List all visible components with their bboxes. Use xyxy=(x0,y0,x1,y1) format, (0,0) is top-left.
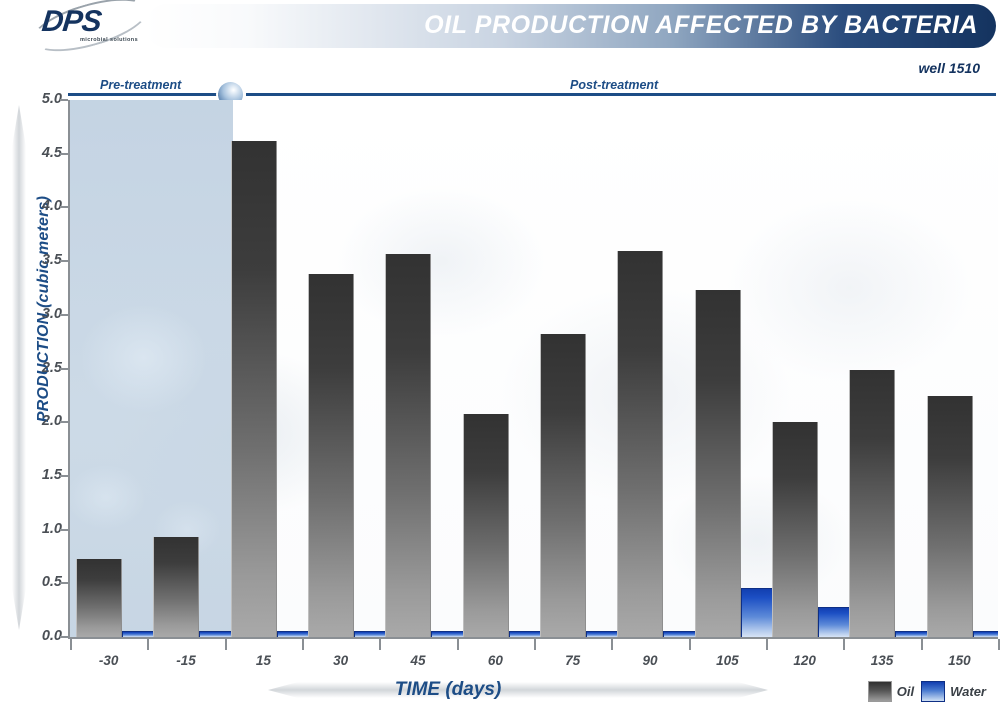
y-tick-label: 3.5 xyxy=(24,252,62,268)
x-tick-mark xyxy=(534,639,536,650)
bar-oil-120 xyxy=(772,422,818,637)
legend-label: Oil xyxy=(897,684,914,699)
y-tick-label: 1.5 xyxy=(24,467,62,483)
y-tick-label: 3.0 xyxy=(24,306,62,322)
x-tick-mark xyxy=(689,639,691,650)
pre-treatment-region-texture xyxy=(70,100,233,637)
x-tick-label: 105 xyxy=(697,653,757,668)
x-tick-label: 45 xyxy=(388,653,448,668)
bar-oil--30 xyxy=(76,559,122,637)
x-tick-label: 135 xyxy=(852,653,912,668)
y-tick-mark xyxy=(60,206,68,208)
y-tick-mark xyxy=(60,314,68,316)
x-axis-line xyxy=(68,637,998,639)
x-tick-mark xyxy=(225,639,227,650)
legend-label: Water xyxy=(950,684,986,699)
bar-oil-150 xyxy=(927,396,973,637)
x-axis-title: TIME (days) xyxy=(68,679,828,701)
x-tick-label: 150 xyxy=(929,653,989,668)
x-tick-label: 90 xyxy=(620,653,680,668)
x-tick-label: 30 xyxy=(311,653,371,668)
x-tick-label: 120 xyxy=(775,653,835,668)
oil-swatch-icon xyxy=(868,681,892,702)
x-tick-label: -15 xyxy=(156,653,216,668)
bar-oil-30 xyxy=(308,274,354,637)
x-tick-label: 15 xyxy=(233,653,293,668)
x-tick-mark xyxy=(70,639,72,650)
bar-oil-75 xyxy=(540,334,586,637)
x-tick-mark xyxy=(611,639,613,650)
x-tick-mark xyxy=(147,639,149,650)
chart-container: PRODUCTION (cubic meters) 5.04.54.03.53.… xyxy=(0,0,1000,709)
bar-water-150 xyxy=(973,631,998,637)
bar-oil-105 xyxy=(695,290,741,637)
y-tick-label: 0.5 xyxy=(24,574,62,590)
legend-item-oil: Oil xyxy=(868,681,914,702)
y-tick-mark xyxy=(60,421,68,423)
legend-item-water: Water xyxy=(921,681,986,702)
y-tick-label: 2.5 xyxy=(24,360,62,376)
y-tick-label: 0.0 xyxy=(24,628,62,644)
y-tick-label: 5.0 xyxy=(24,91,62,107)
x-tick-mark xyxy=(457,639,459,650)
y-tick-mark xyxy=(60,260,68,262)
x-tick-mark xyxy=(843,639,845,650)
y-tick-label: 4.5 xyxy=(24,145,62,161)
bar-oil-45 xyxy=(385,254,431,637)
bar-oil-60 xyxy=(463,414,509,637)
x-tick-mark xyxy=(379,639,381,650)
bar-oil-90 xyxy=(617,251,663,637)
bar-oil-135 xyxy=(849,370,895,637)
y-tick-mark xyxy=(60,475,68,477)
bar-oil-15 xyxy=(231,141,277,637)
y-tick-mark xyxy=(60,582,68,584)
x-tick-label: -30 xyxy=(79,653,139,668)
y-tick-mark xyxy=(60,636,68,638)
x-tick-label: 60 xyxy=(465,653,525,668)
x-tick-label: 75 xyxy=(543,653,603,668)
y-tick-mark xyxy=(60,368,68,370)
y-tick-mark xyxy=(60,153,68,155)
chart-legend: OilWater xyxy=(868,680,986,702)
water-swatch-icon xyxy=(921,681,945,702)
x-tick-mark xyxy=(921,639,923,650)
y-tick-label: 4.0 xyxy=(24,198,62,214)
y-tick-label: 2.0 xyxy=(24,413,62,429)
x-tick-mark xyxy=(302,639,304,650)
plot-area xyxy=(70,100,998,637)
bar-oil--15 xyxy=(153,537,199,637)
y-tick-mark xyxy=(60,99,68,101)
y-tick-mark xyxy=(60,529,68,531)
x-tick-mark xyxy=(766,639,768,650)
y-tick-label: 1.0 xyxy=(24,521,62,537)
x-axis-title-wrap: TIME (days) xyxy=(68,676,828,706)
